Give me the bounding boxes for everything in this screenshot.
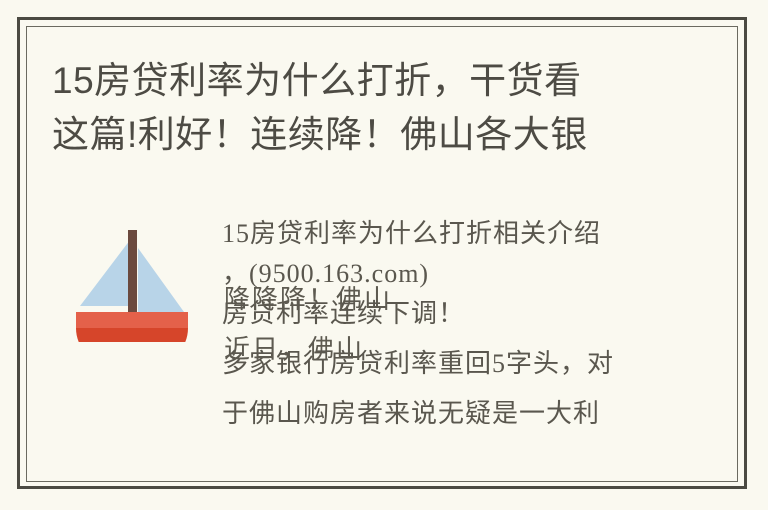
page-title-line-2: 这篇!利好！连续降！佛山各大银 bbox=[52, 108, 712, 162]
article-preview-page: 15房贷利率为什么打折，干货看 这篇!利好！连续降！佛山各大银 bbox=[0, 0, 768, 510]
article-line-4: 多家银行房贷利率重回5字头，对 bbox=[222, 339, 614, 389]
page-title-line-1: 15房贷利率为什么打折，干货看 bbox=[52, 54, 712, 108]
sailboat-icon bbox=[70, 216, 196, 342]
article-line-3: 房贷利率连续下调！ bbox=[222, 289, 465, 339]
page-title: 15房贷利率为什么打折，干货看 这篇!利好！连续降！佛山各大银 bbox=[52, 54, 712, 162]
article-text-column: 15房贷利率为什么打折相关介绍 ，(9500.163.com) 房贷利率连续下调… bbox=[222, 191, 722, 482]
article-line-5: 于佛山购房者来说无疑是一大利 bbox=[222, 389, 600, 439]
article-body: 15房贷利率为什么打折相关介绍 ，(9500.163.com) 房贷利率连续下调… bbox=[26, 191, 738, 482]
page-content: 15房贷利率为什么打折，干货看 这篇!利好！连续降！佛山各大银 bbox=[26, 26, 738, 482]
